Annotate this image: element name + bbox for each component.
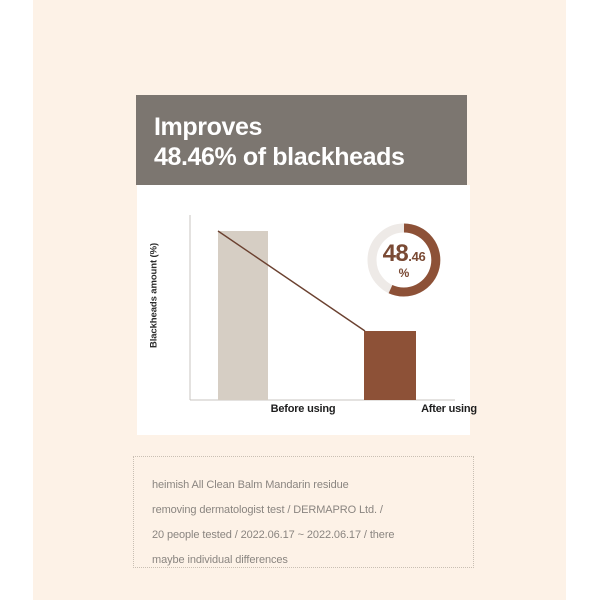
headline-line-2: 48.46% of blackheads bbox=[154, 142, 467, 172]
headline-line-1: Improves bbox=[154, 112, 467, 142]
donut-gauge: 48 .46 % bbox=[364, 220, 444, 300]
x-tick-label-before: Before using bbox=[243, 403, 363, 415]
disclaimer-box: heimish All Clean Balm Mandarin residue … bbox=[133, 456, 474, 568]
disclaimer-line: maybe individual differences bbox=[152, 548, 455, 573]
disclaimer-line: heimish All Clean Balm Mandarin residue bbox=[152, 473, 455, 498]
bar-before-using bbox=[218, 231, 268, 400]
bar-after-using bbox=[364, 331, 416, 400]
x-tick-label-after: After using bbox=[389, 403, 509, 415]
headline-banner: Improves 48.46% of blackheads bbox=[136, 95, 467, 185]
donut-svg bbox=[364, 220, 444, 300]
chart-card: Blackheads amount (%) Before using After… bbox=[137, 185, 470, 435]
y-axis-label: Blackheads amount (%) bbox=[149, 226, 160, 366]
screenshot-root: Improves 48.46% of blackheads Blackheads… bbox=[0, 0, 600, 600]
disclaimer-line: removing dermatologist test / DERMAPRO L… bbox=[152, 498, 455, 523]
donut-value-arc bbox=[391, 228, 436, 292]
disclaimer-line: 20 people tested / 2022.06.17 ~ 2022.06.… bbox=[152, 523, 455, 548]
